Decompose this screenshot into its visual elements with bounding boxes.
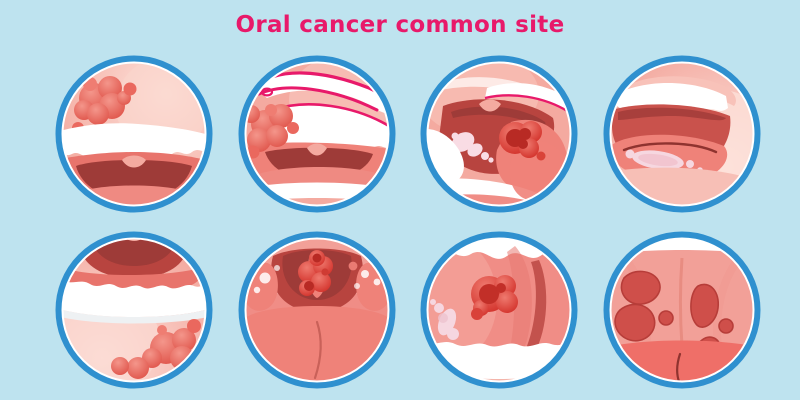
panel-4-art	[602, 54, 762, 214]
panel-buccal-mucosa-lesion[interactable]	[419, 230, 579, 390]
panel-throat-uvula-lesion[interactable]	[237, 230, 397, 390]
panel-upper-gum-lesion[interactable]	[54, 54, 214, 214]
panel-1-art	[54, 54, 214, 214]
panel-7-art	[419, 230, 579, 390]
panel-3-art	[419, 54, 579, 214]
page-title: Oral cancer common site	[0, 12, 800, 38]
panel-tongue-lesion[interactable]	[602, 54, 762, 214]
panel-5-art	[54, 230, 214, 390]
panel-palate-lesion[interactable]	[602, 230, 762, 390]
panel-6-art	[237, 230, 397, 390]
panel-inner-cheek-lesion[interactable]	[419, 54, 579, 214]
illustration-canvas: Oral cancer common site	[0, 0, 800, 400]
panel-lip-lesion[interactable]	[237, 54, 397, 214]
panel-8-art	[602, 230, 762, 390]
panel-lower-gum-lesion[interactable]	[54, 230, 214, 390]
panel-2-art	[237, 54, 397, 214]
